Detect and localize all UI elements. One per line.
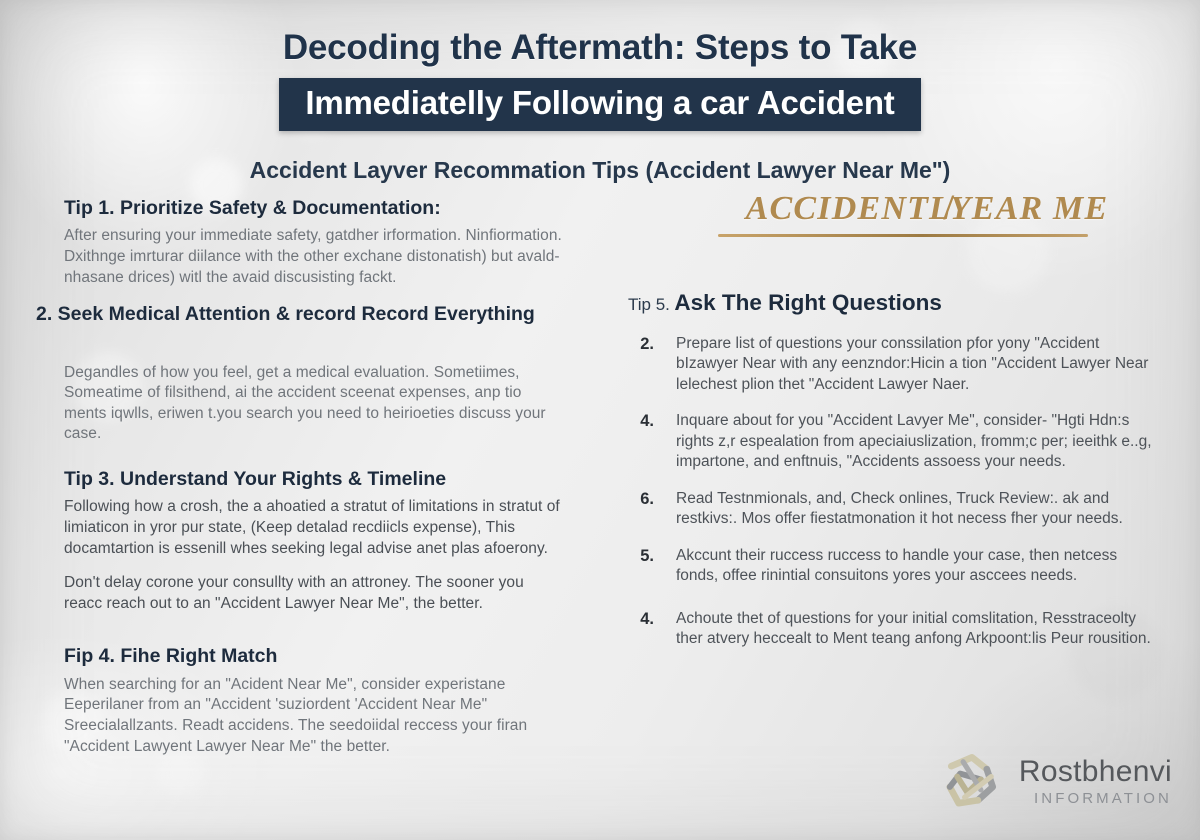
tip-3-body-secondary: Don't delay corone your consullty with a… bbox=[64, 573, 564, 614]
infographic-poster: Decoding the Aftermath: Steps to Take Im… bbox=[0, 0, 1200, 840]
brand-logo: Rostbhenvi INFORMATION bbox=[935, 744, 1172, 818]
left-column: Tip 1. Prioritize Safety & Documentation… bbox=[64, 196, 564, 771]
tip-4-heading: Fip 4. Fihe Right Match bbox=[64, 644, 564, 668]
gold-headline: ACCIDENTL̸YEAR ME bbox=[622, 190, 1152, 228]
list-item-number: 5. bbox=[622, 546, 676, 587]
tip-block-3: Tip 3. Understand Your Rights & Timeline… bbox=[64, 467, 564, 614]
brand-text: Rostbhenvi INFORMATION bbox=[1019, 757, 1172, 806]
list-item: 4. Inquare about for you "Accident Lavye… bbox=[622, 411, 1152, 472]
list-item-number: 4. bbox=[622, 609, 676, 650]
list-item-number: 4. bbox=[622, 411, 676, 472]
spacer bbox=[64, 628, 564, 644]
tip-2-body: Degandles of how you feel, get a medical… bbox=[64, 363, 564, 445]
list-item-text: Akccunt their ruccess ruccess to handle … bbox=[676, 546, 1152, 587]
tip-1-body: After ensuring your immediate safety, ga… bbox=[64, 226, 564, 288]
list-item-number: 2. bbox=[622, 334, 676, 395]
tip-block-2: 2. Seek Medical Attention & record Recor… bbox=[64, 302, 564, 445]
list-item: 6. Read Testnmionals, and, Check onlines… bbox=[622, 489, 1152, 530]
spacer bbox=[64, 333, 564, 363]
tip-5-prefix: Tip 5. bbox=[628, 295, 670, 314]
tip-3-heading: Tip 3. Understand Your Rights & Timeline bbox=[64, 467, 564, 491]
abstract-knot-logo-icon bbox=[935, 744, 1009, 818]
page-title-banner: Immediatelly Following a car Accident bbox=[279, 78, 920, 131]
poster-header: Decoding the Aftermath: Steps to Take Im… bbox=[0, 0, 1200, 184]
list-item-text: Achoute thet of questions for your initi… bbox=[676, 609, 1152, 650]
question-list: 2. Prepare list of questions your conssi… bbox=[622, 334, 1152, 649]
right-column: ACCIDENTL̸YEAR ME Tip 5. Ask The Right Q… bbox=[622, 190, 1152, 665]
tip-block-4: Fip 4. Fihe Right Match When searching f… bbox=[64, 644, 564, 757]
list-item: 2. Prepare list of questions your conssi… bbox=[622, 334, 1152, 395]
list-item-text: Read Testnmionals, and, Check onlines, T… bbox=[676, 489, 1152, 530]
tip-4-body: When searching for an "Acident Near Me",… bbox=[64, 675, 564, 757]
list-item: 4. Achoute thet of questions for your in… bbox=[622, 609, 1152, 650]
list-item-text: Prepare list of questions your conssilat… bbox=[676, 334, 1152, 395]
page-subtitle: Accident Layver Recommation Tips (Accide… bbox=[0, 157, 1200, 184]
brand-name: Rostbhenvi bbox=[1019, 757, 1172, 787]
list-item-text: Inquare about for you "Accident Lavyer M… bbox=[676, 411, 1152, 472]
tip-block-1: Tip 1. Prioritize Safety & Documentation… bbox=[64, 196, 564, 288]
spacer bbox=[64, 459, 564, 467]
tip-5-heading: Ask The Right Questions bbox=[674, 290, 942, 315]
tip-5-heading-group: Tip 5. Ask The Right Questions bbox=[628, 289, 1152, 316]
page-title-line1: Decoding the Aftermath: Steps to Take bbox=[0, 28, 1200, 68]
list-item-number: 6. bbox=[622, 489, 676, 530]
list-item: 5. Akccunt their ruccess ruccess to hand… bbox=[622, 546, 1152, 587]
tip-2-heading: 2. Seek Medical Attention & record Recor… bbox=[36, 302, 564, 326]
brand-tagline: INFORMATION bbox=[1019, 791, 1172, 806]
tip-1-heading: Tip 1. Prioritize Safety & Documentation… bbox=[64, 196, 564, 220]
gold-underline-rule bbox=[718, 234, 1088, 237]
tip-3-body: Following how a crosh, the a ahoatied a … bbox=[64, 497, 564, 559]
